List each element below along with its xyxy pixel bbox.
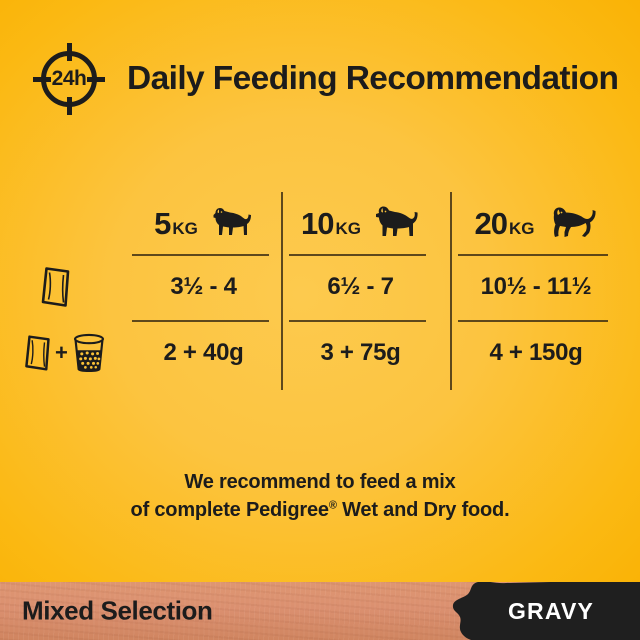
weight-value: 10	[301, 208, 333, 239]
portion-icon-column: +	[0, 192, 126, 390]
recommendation-line-2-pre: of complete Pedigree	[131, 499, 329, 521]
small-dog-icon	[207, 206, 253, 240]
pouch-icon	[22, 333, 52, 373]
gravy-badge-label: GRAVY	[444, 582, 640, 640]
clock-badge-label: 24h	[33, 43, 105, 115]
gravy-badge: GRAVY	[444, 582, 640, 640]
row-icon-wet-only	[38, 256, 72, 318]
row-icon-mixed: +	[22, 322, 107, 384]
weight-header-cell: 10 KG	[283, 192, 438, 254]
weight-unit: KG	[335, 220, 361, 237]
feeding-table: 5 KG 3½ - 4 2 + 40g 10 KG	[126, 192, 640, 390]
wet-only-amount: 3½ - 4	[126, 256, 281, 318]
clock-24h-icon: 24h	[33, 43, 105, 115]
weight-unit: KG	[509, 220, 535, 237]
recommendation-line-1: We recommend to feed a mix	[0, 468, 640, 496]
medium-dog-icon	[370, 205, 420, 241]
weight-header-cell: 20 KG	[452, 192, 620, 254]
pouch-icon	[38, 265, 72, 309]
wet-only-amount: 10½ - 11½	[452, 256, 620, 318]
mixed-amount: 2 + 40g	[126, 322, 281, 384]
product-variant-title: Mixed Selection	[22, 596, 213, 627]
footer-band: Mixed Selection GRAVY	[0, 582, 640, 640]
feeding-guide-panel: 24h Daily Feeding Recommendation +	[0, 0, 640, 640]
wet-only-amount: 6½ - 7	[283, 256, 438, 318]
large-dog-icon	[543, 204, 597, 242]
registered-trademark-symbol: ®	[329, 500, 337, 512]
weight-value: 5	[154, 208, 170, 239]
mixed-amount: 4 + 150g	[452, 322, 620, 384]
table-column-20kg: 20 KG 10½ - 11½ 4 + 150g	[452, 192, 620, 390]
table-column-10kg: 10 KG 6½ - 7 3 + 75g	[283, 192, 438, 390]
page-title: Daily Feeding Recommendation	[127, 62, 618, 96]
weight-header-cell: 5 KG	[126, 192, 281, 254]
weight-value: 20	[475, 208, 507, 239]
header: 24h Daily Feeding Recommendation	[0, 40, 640, 118]
recommendation-line-2: of complete Pedigree® Wet and Dry food.	[0, 496, 640, 524]
weight-unit: KG	[172, 220, 198, 237]
recommendation-line-2-post: Wet and Dry food.	[337, 499, 510, 521]
recommendation-text: We recommend to feed a mix of complete P…	[0, 468, 640, 525]
plus-symbol: +	[55, 340, 68, 366]
mixed-amount: 3 + 75g	[283, 322, 438, 384]
dry-food-cup-icon	[71, 332, 107, 374]
table-column-5kg: 5 KG 3½ - 4 2 + 40g	[126, 192, 281, 390]
